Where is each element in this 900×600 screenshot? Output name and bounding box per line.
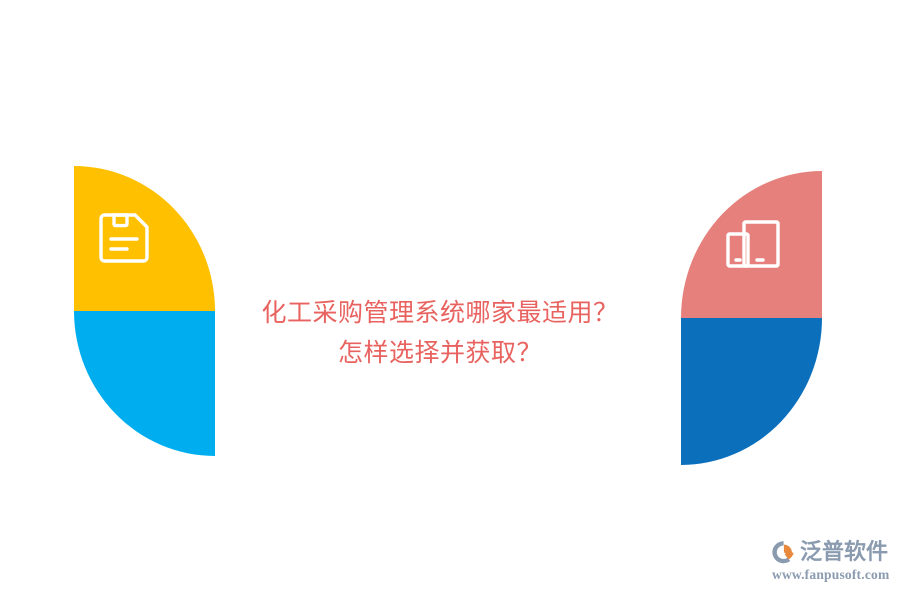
brand-watermark: 泛普软件 www.fanpusoft.com: [770, 538, 894, 588]
headline: 化工采购管理系统哪家最适用？ 怎样选择并获取？: [230, 294, 650, 374]
right-half-disc-graphic: [681, 171, 822, 465]
left-half-disc-graphic: [74, 166, 215, 456]
poster-canvas: 化工采购管理系统哪家最适用？ 怎样选择并获取？ 泛普软件 www.fanpuso…: [0, 0, 900, 600]
brand-row: 泛普软件: [770, 538, 894, 568]
right-bottom-quadrant-blue: [681, 318, 822, 465]
left-top-quadrant-yellow: [74, 166, 215, 311]
left-bottom-quadrant-cyan: [74, 311, 215, 456]
save-document-icon: [96, 210, 152, 266]
headline-line-2: 怎样选择并获取？: [230, 334, 650, 374]
headline-line-1: 化工采购管理系统哪家最适用？: [230, 294, 650, 334]
brand-url: www.fanpusoft.com: [772, 567, 894, 583]
brand-name: 泛普软件: [800, 539, 888, 567]
fanpu-swoosh-icon: [770, 539, 798, 567]
book-document-icon: [717, 510, 775, 568]
chat-lock-icon: [118, 505, 178, 557]
right-top-quadrant-salmon: [681, 171, 822, 318]
devices-icon: [723, 217, 783, 273]
